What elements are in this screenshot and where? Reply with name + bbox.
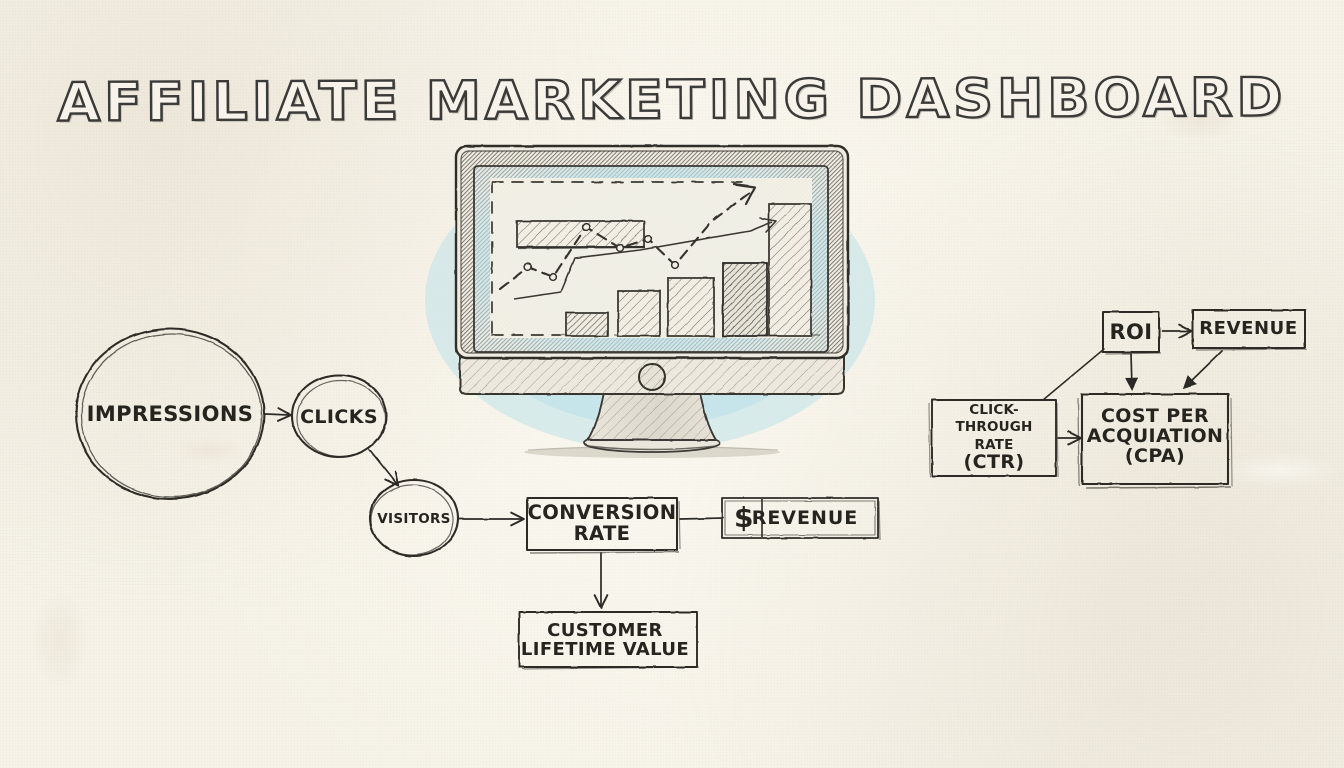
clv-line-1: CUSTOMER	[547, 620, 663, 641]
chart-bar-1	[566, 313, 608, 336]
ctr-line-1: CLICK-THROUGH	[955, 402, 1032, 435]
chart-bar-4	[723, 263, 767, 336]
node-click-through-rate[interactable]: CLICK-THROUGH RATE (CTR)	[936, 404, 1052, 468]
revenue-right-label: REVENUE	[1199, 319, 1298, 338]
clicks-label: CLICKS	[300, 407, 378, 427]
ctr-label: CLICK-THROUGH RATE (CTR)	[936, 400, 1052, 473]
conversion-rate-line-2: RATE	[574, 522, 631, 545]
chart-bar-5	[769, 204, 811, 336]
clv-line-2: LIFETIME VALUE	[521, 639, 689, 660]
node-revenue-right[interactable]: REVENUE	[1197, 313, 1300, 345]
node-revenue[interactable]: REVENUE	[738, 498, 872, 538]
chart-horizontal-bar	[517, 221, 645, 248]
page-title-container: AFFILIATE MARKETING DASHBOARD	[0, 70, 1344, 131]
cpa-line-2: ACQUIATION	[1087, 425, 1224, 447]
arrow-roi-to-cpa	[1131, 354, 1132, 388]
conversion-rate-line-1: CONVERSION	[528, 501, 677, 524]
node-clicks[interactable]: CLICKS	[288, 378, 390, 456]
chart-bar-2	[618, 291, 660, 336]
arrow-revenue-to-cpa	[1185, 351, 1222, 387]
arrow-impressions-to-clicks	[266, 414, 289, 415]
revenue-label: REVENUE	[752, 508, 859, 528]
cpa-line-1: COST PER	[1101, 405, 1209, 427]
node-visitors[interactable]: VISITORS	[366, 484, 462, 554]
page-title: AFFILIATE MARKETING DASHBOARD	[57, 67, 1286, 133]
monitor-stand-neck	[588, 392, 716, 440]
cpa-line-3: (CPA)	[1125, 445, 1185, 467]
node-conversion-rate[interactable]: CONVERSION RATE	[527, 498, 677, 550]
roi-label: ROI	[1109, 321, 1152, 343]
power-button[interactable]	[639, 364, 665, 390]
node-customer-lifetime-value[interactable]: CUSTOMER LIFETIME VALUE	[519, 615, 691, 665]
node-impressions[interactable]: IMPRESSIONS	[76, 330, 264, 498]
diagram-canvas: AFFILIATE MARKETING DASHBOARD	[0, 0, 1344, 768]
clv-label: CUSTOMER LIFETIME VALUE	[521, 621, 689, 660]
chart-bar-3	[668, 278, 714, 336]
node-cost-per-acquisition[interactable]: COST PER ACQUIATION (CPA)	[1086, 398, 1224, 474]
line-conversion-to-revenue	[680, 518, 723, 519]
ctr-line-3: (CTR)	[964, 451, 1025, 473]
monitor-screen[interactable]	[474, 166, 828, 352]
impressions-label: IMPRESSIONS	[87, 403, 254, 425]
visitors-label: VISITORS	[377, 512, 450, 526]
node-roi[interactable]: ROI	[1106, 315, 1156, 349]
conversion-rate-label: CONVERSION RATE	[528, 503, 677, 545]
cpa-label: COST PER ACQUIATION (CPA)	[1087, 406, 1224, 467]
line-ctr-to-roi	[1043, 349, 1104, 400]
